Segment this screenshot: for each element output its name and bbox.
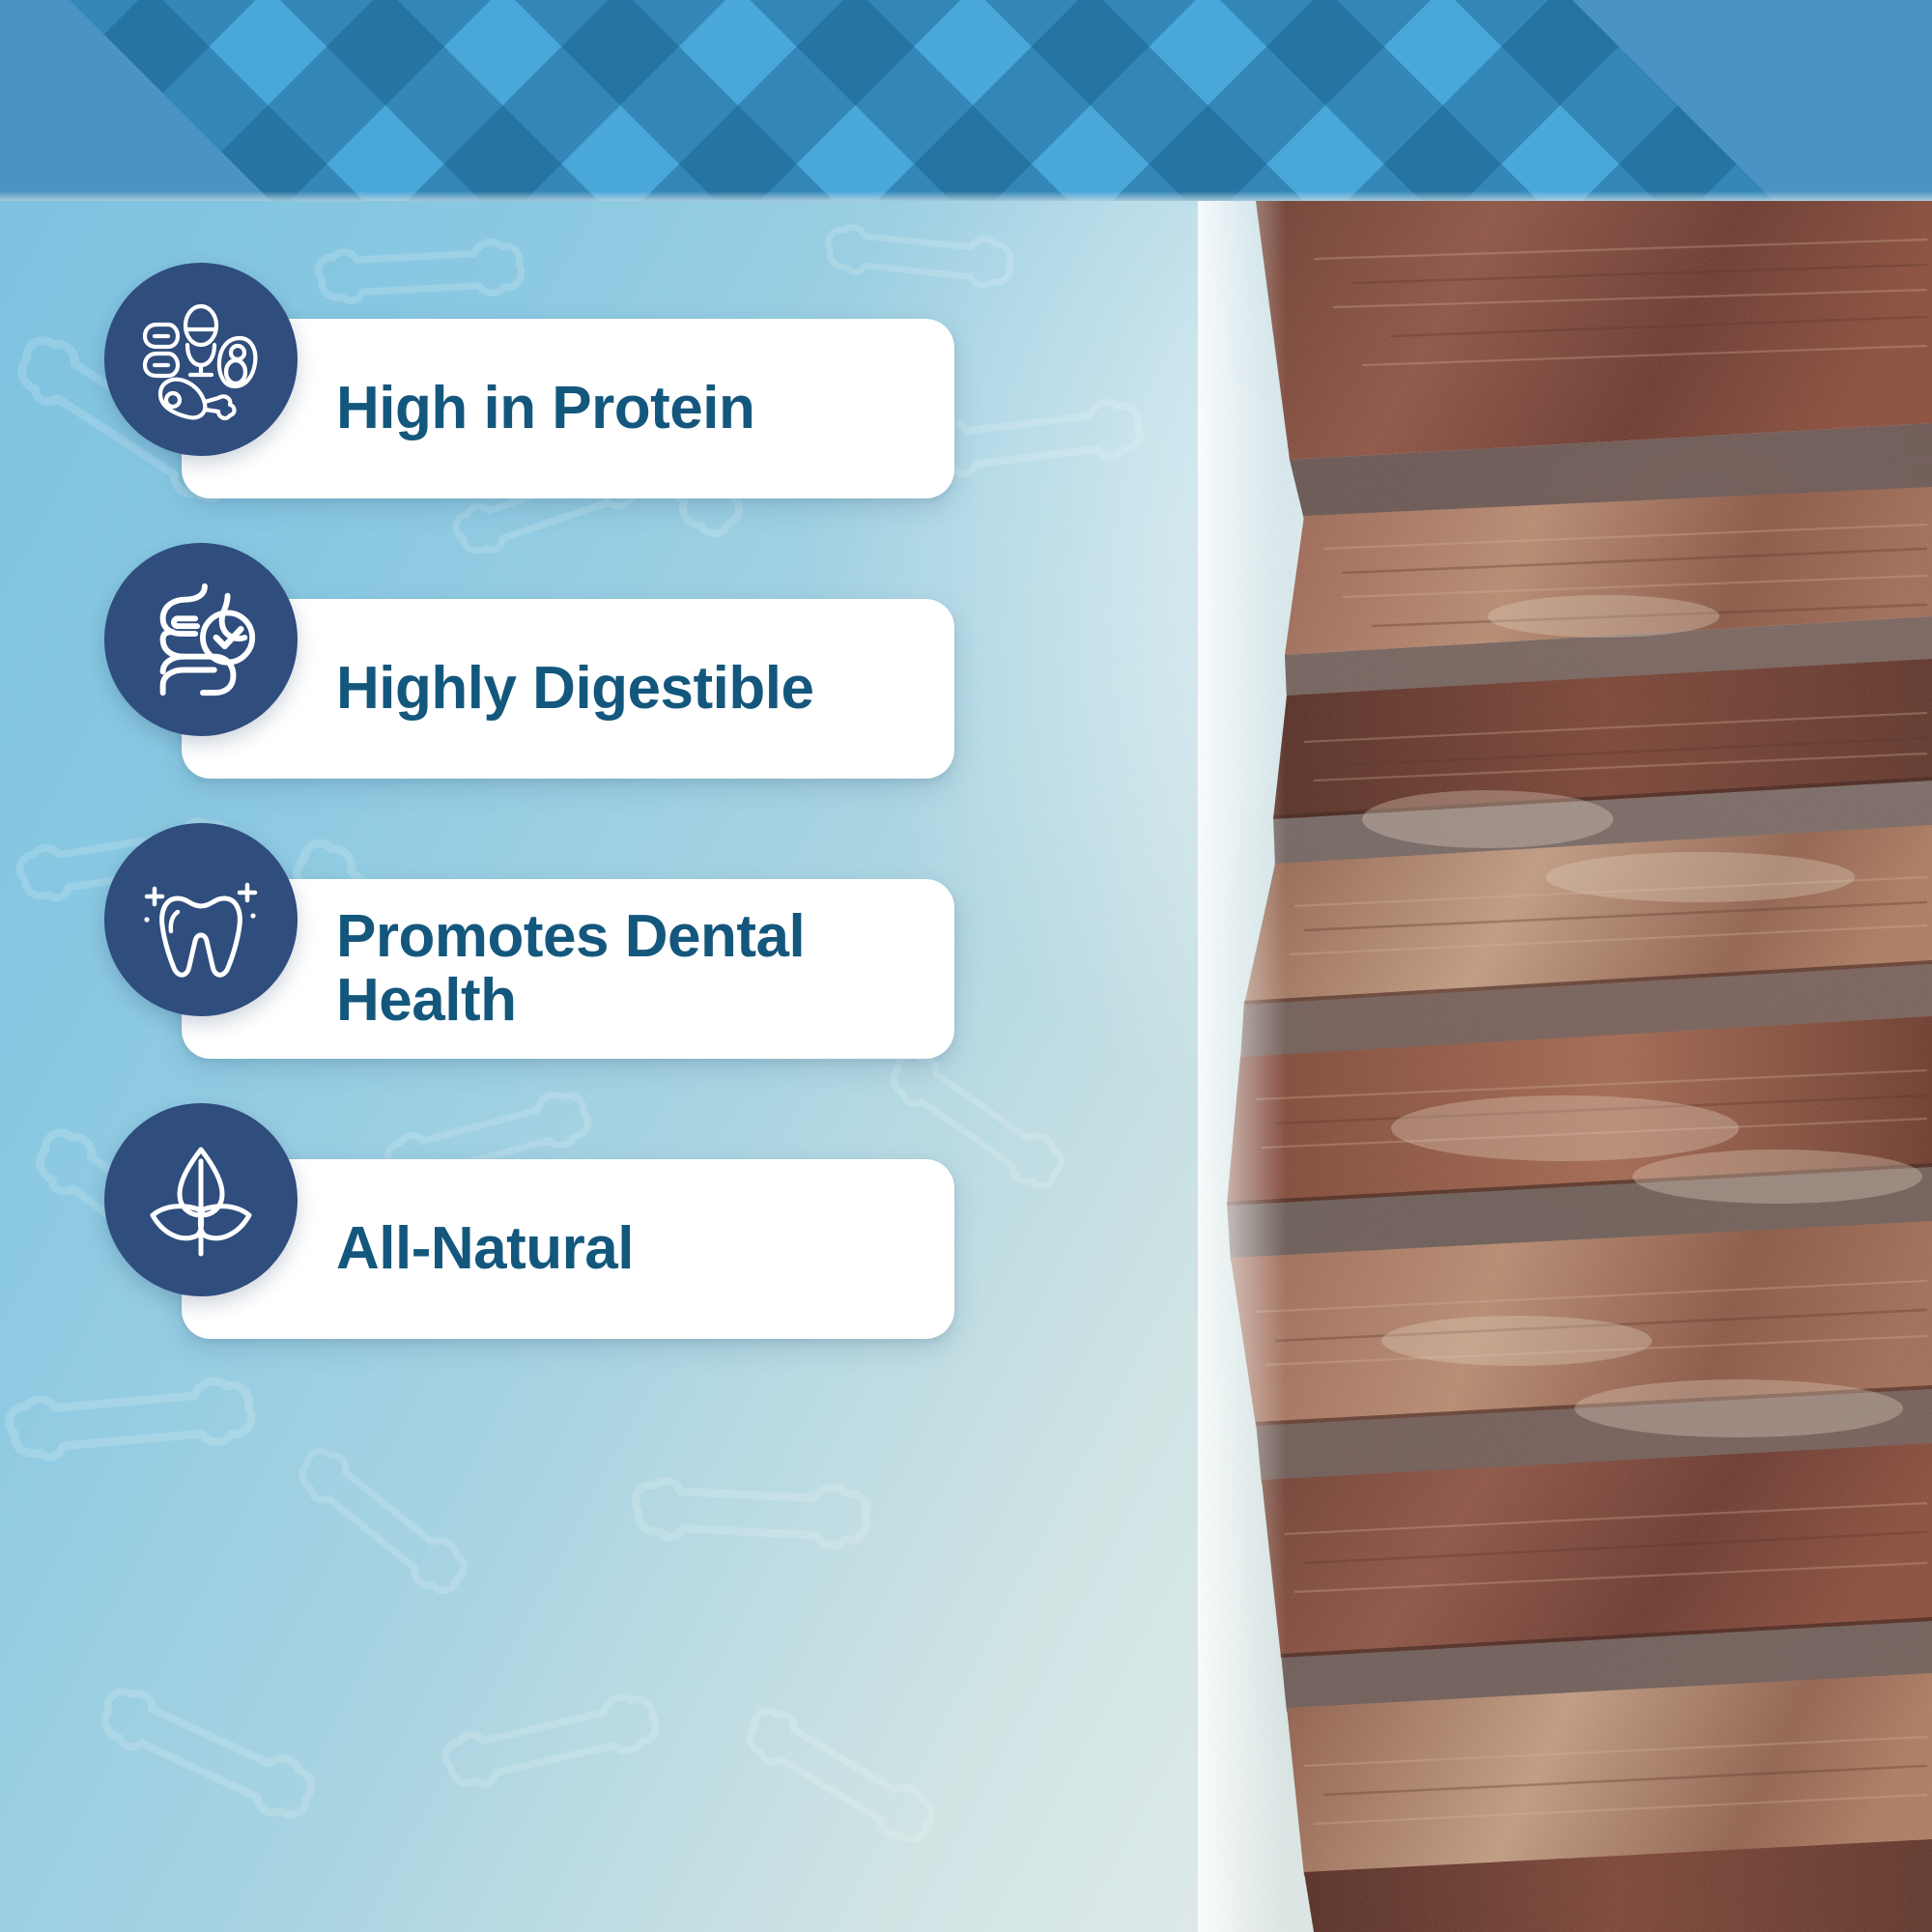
- header-gingham-band: [0, 0, 1932, 201]
- header-fade-edge: [0, 191, 1932, 201]
- feature-card-protein[interactable]: High in Protein: [182, 319, 954, 498]
- dog-chew-sticks-photo: [1198, 201, 1932, 1932]
- feature-card-natural[interactable]: All-Natural: [182, 1159, 954, 1339]
- protein-foods-icon: [104, 263, 298, 456]
- feature-card-dental[interactable]: Promotes Dental Health: [182, 879, 954, 1059]
- leaf-plant-icon: [104, 1103, 298, 1296]
- feature-list: High in Protein: [0, 201, 1024, 1932]
- feature-card-digestible[interactable]: Highly Digestible: [182, 599, 954, 779]
- infographic-canvas: High in Protein: [0, 0, 1932, 1932]
- feature-row-digestible: Highly Digestible: [0, 541, 1024, 763]
- gingham-diamond-pattern: [0, 0, 1932, 201]
- digestive-health-icon: [104, 543, 298, 736]
- feature-row-protein: High in Protein: [0, 261, 1024, 483]
- feature-row-dental: Promotes Dental Health: [0, 821, 1024, 1043]
- feature-label-dental: Promotes Dental Health: [182, 905, 954, 1032]
- tooth-sparkle-icon: [104, 823, 298, 1016]
- feature-row-natural: All-Natural: [0, 1101, 1024, 1323]
